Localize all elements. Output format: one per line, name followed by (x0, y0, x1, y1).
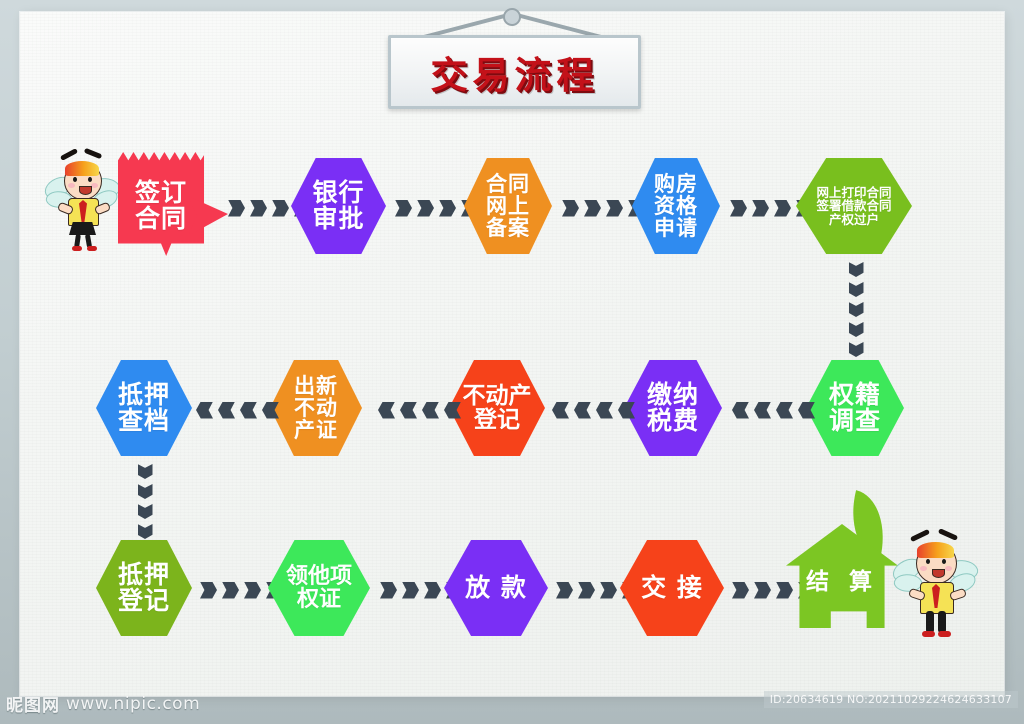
flow-node-label: 购房 资格 申请 (650, 173, 702, 240)
flow-node-label: 签订 合同 (131, 176, 191, 233)
connector-row2-3 (552, 400, 635, 420)
flow-node-label: 领他项 权证 (282, 565, 356, 612)
page-title: 交易流程 (431, 45, 599, 99)
poster-title-sign: 交易流程 (388, 35, 641, 109)
flow-node-label: 抵押 登记 (114, 562, 174, 615)
connector-row1-3 (562, 198, 645, 218)
bee-mascot-right (896, 528, 974, 642)
site-watermark: 昵图网 www.nipic.com (6, 691, 200, 716)
flow-node-label: 不动产 登记 (459, 384, 536, 433)
connector-row2-2 (378, 400, 461, 420)
flow-node-settlement[interactable]: 结 算 (786, 524, 898, 628)
bee-mascot-left (46, 148, 118, 252)
flow-node-label: 缴纳 税费 (643, 382, 703, 435)
flow-node-label: 放 款 (461, 575, 531, 602)
site-logo: 昵图网 (6, 691, 60, 716)
flow-node-label: 出新 不动 产证 (290, 375, 342, 442)
connector-vertical-right (846, 262, 866, 377)
flow-node-label: 银行 审批 (308, 180, 368, 233)
connector-row2-4 (732, 400, 815, 420)
flow-node-label: 抵押 查档 (114, 382, 174, 435)
flow-node-label: 网上打印合同 签署借款合同 产权过户 (812, 186, 895, 226)
site-url: www.nipic.com (66, 694, 200, 714)
poster-canvas: 交易流程 签订 合同 银行 审批 (0, 0, 1024, 724)
flow-node-label: 合同 网上 备案 (482, 173, 534, 240)
connector-row2-1 (196, 400, 279, 420)
flow-node-label: 交 接 (637, 575, 707, 602)
flow-node-label: 权籍 调查 (825, 382, 885, 435)
flow-node-label: 结 算 (786, 562, 898, 596)
image-id-watermark: ID:20634619 NO:20211029224624633107 (764, 691, 1018, 708)
flow-node-sign-contract[interactable]: 签订 合同 (118, 152, 204, 256)
